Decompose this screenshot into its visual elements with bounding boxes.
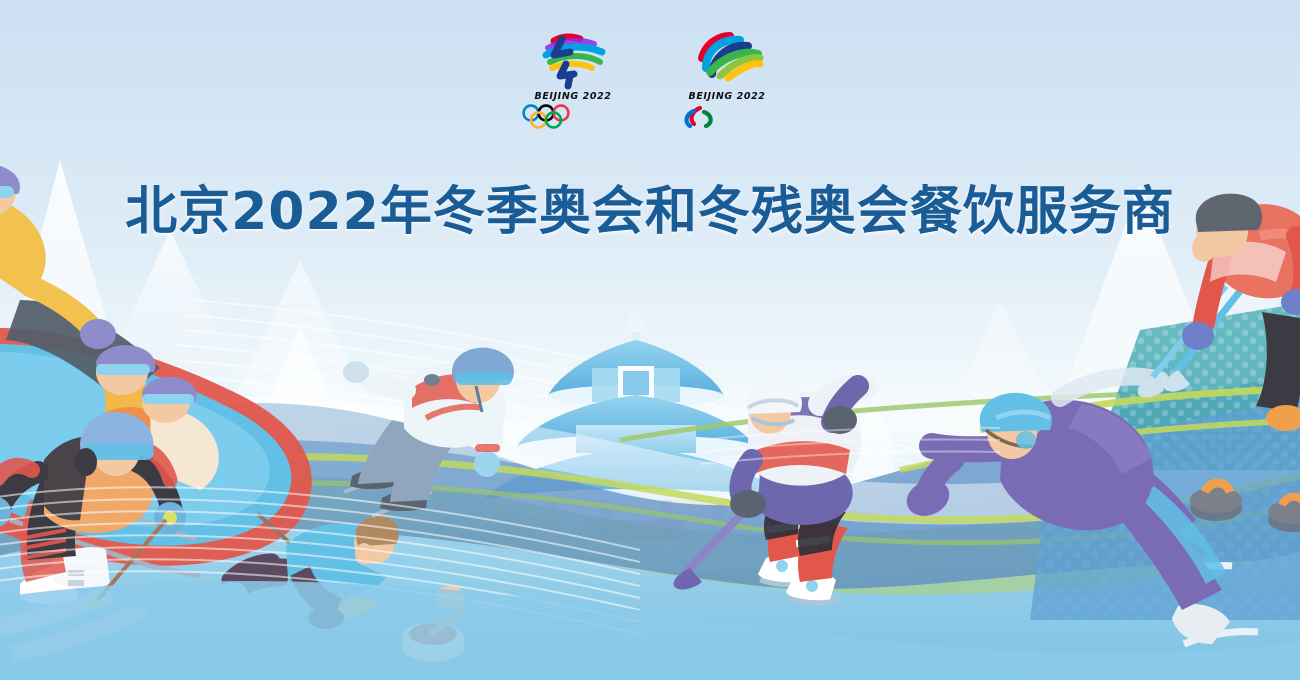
beijing-2022-olympic-emblem xyxy=(518,28,628,90)
beijing-2022-paralympic-emblem xyxy=(672,28,782,90)
beijing-2022-catering-banner: BEIJING 2022 xyxy=(0,0,1300,680)
paralympic-agitos xyxy=(672,104,746,130)
olympic-wordmark: BEIJING 2022 xyxy=(518,91,628,102)
olympic-rings xyxy=(518,104,592,130)
bottom-ice-band xyxy=(0,581,1300,680)
paralympic-emblem-block: BEIJING 2022 xyxy=(672,28,782,130)
paralympic-wordmark: BEIJING 2022 xyxy=(672,91,782,102)
emblem-row: BEIJING 2022 xyxy=(0,28,1300,130)
olympic-emblem-block: BEIJING 2022 xyxy=(518,28,628,130)
